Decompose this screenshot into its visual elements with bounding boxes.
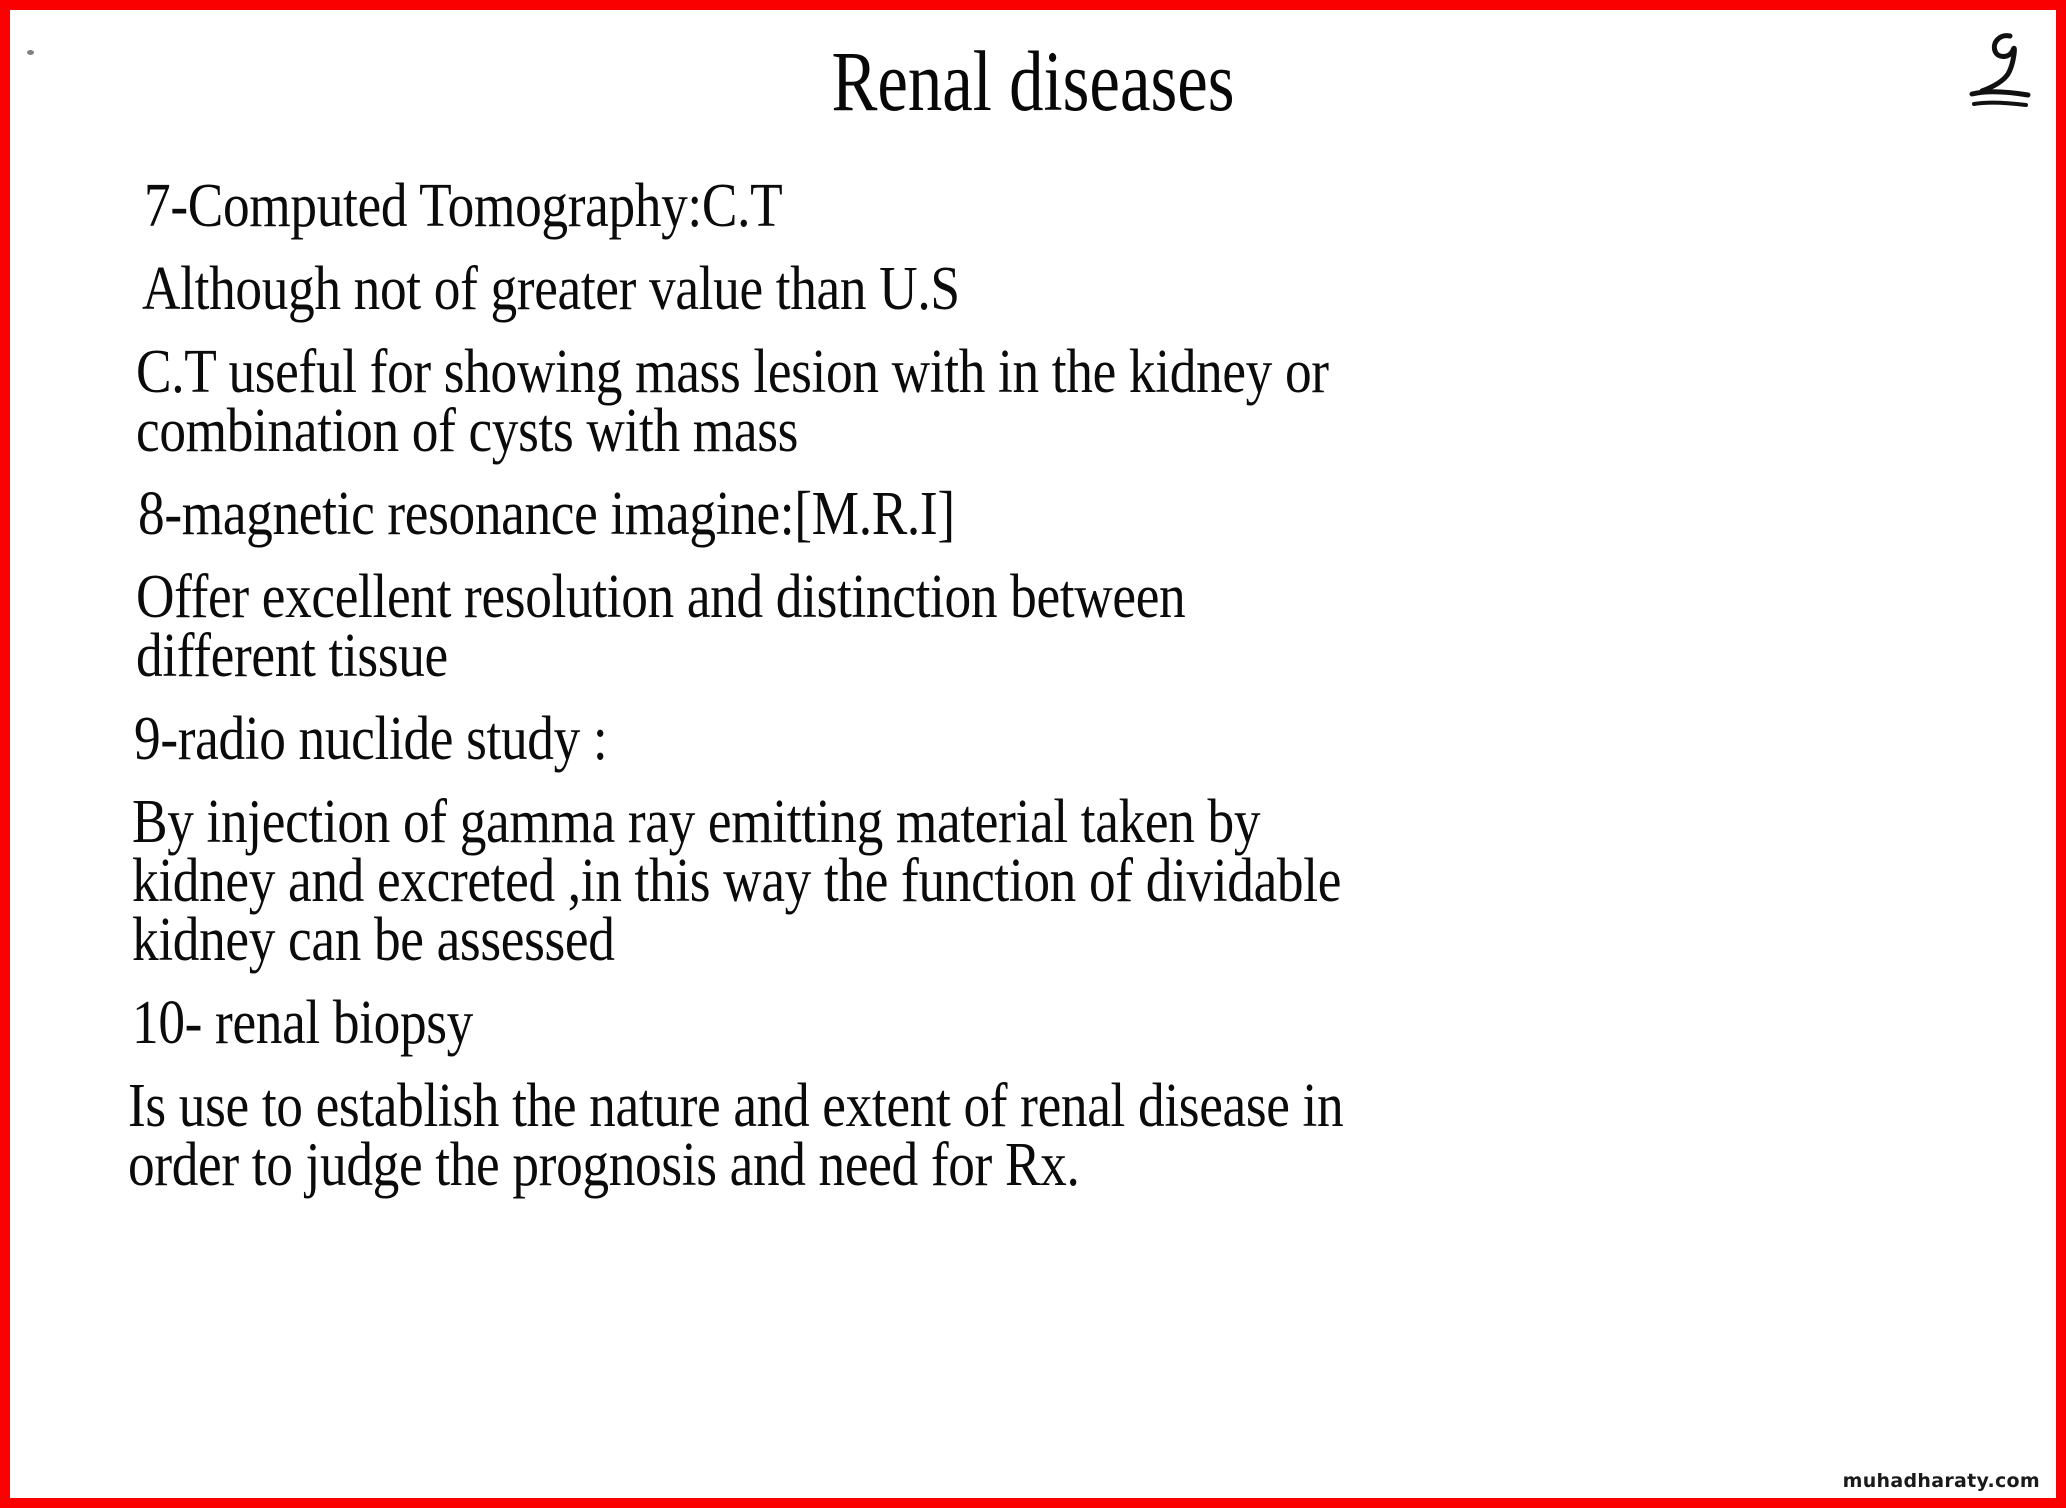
paragraph-ct-use-line2: combination of cysts with mass: [136, 403, 2011, 460]
paragraph-radionuclide-line2: kidney and excreted ,in this way the fun…: [132, 853, 2007, 910]
paragraph-radionuclide-line1: By injection of gamma ray emitting mater…: [132, 794, 2007, 851]
scan-speck: [27, 50, 34, 55]
paragraph-mri-heading: 8-magnetic resonance imagine:[M.R.I]: [138, 486, 2013, 543]
site-watermark: muhadharaty.com: [1843, 1470, 2040, 1492]
paragraph-radionuclide-line3: kidney can be assessed: [132, 912, 2007, 969]
handwritten-page-number-icon: [1964, 24, 2034, 114]
paragraph-ct-heading: 7-Computed Tomography:C.T: [144, 178, 2019, 235]
paragraph-biopsy-line2: order to judge the prognosis and need fo…: [128, 1137, 2003, 1194]
slide-title: Renal diseases: [215, 38, 1852, 124]
paragraph-biopsy-heading: 10- renal biopsy: [132, 995, 2007, 1052]
paragraph-radionuclide-heading: 9-radio nuclide study :: [134, 711, 2009, 768]
paragraph-ct-note: Although not of greater value than U.S: [142, 261, 2017, 318]
paragraph-ct-use-line1: C.T useful for showing mass lesion with …: [136, 344, 2011, 401]
slide-canvas: Renal diseases 7-Computed Tomography:C.T…: [0, 0, 2066, 1508]
paragraph-biopsy-line1: Is use to establish the nature and exten…: [128, 1078, 2003, 1135]
paragraph-mri-use-line2: different tissue: [136, 628, 2011, 685]
slide-body: 7-Computed Tomography:C.T Although not o…: [128, 178, 2008, 1220]
paragraph-mri-use-line1: Offer excellent resolution and distincti…: [136, 569, 2011, 626]
